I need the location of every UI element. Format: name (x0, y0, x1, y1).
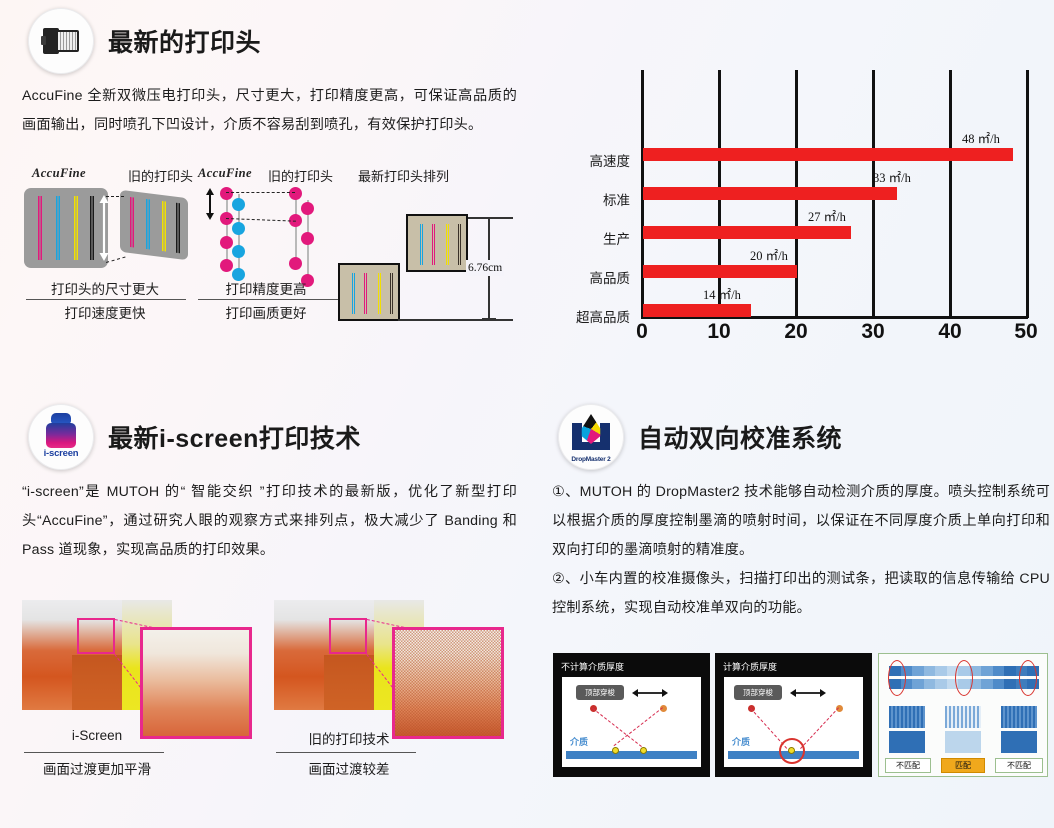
figure-head-arrangement: 最新打印头排列 6.76cm (340, 166, 515, 326)
old-head-body (120, 190, 188, 260)
brochure-page: 最新的打印头 AccuFine 全新双微压电打印头，尺寸更大，打印精度更高，可保… (0, 0, 1054, 828)
page-title-iscreen: 最新i-screen打印技术 (108, 419, 361, 455)
section-header-iscreen: i-screen 最新i-screen打印技术 (28, 404, 361, 470)
align-line-top (226, 192, 295, 193)
chart-xtick-4: 40 (938, 320, 961, 344)
dm-media-bar-0 (566, 751, 697, 759)
paragraph-printhead: AccuFine 全新双微压电打印头，尺寸更大，打印精度更高，可保证高品质的画面… (22, 82, 517, 140)
dm-media-label-0: 介质 (570, 735, 588, 748)
calibration-result-panel: 不匹配 匹配 不匹配 (878, 653, 1048, 777)
patch-left-bottom (889, 731, 925, 753)
dm-landing-b-0 (640, 747, 647, 754)
chart-xtick-3: 30 (861, 320, 884, 344)
dm-media-label-1: 介质 (732, 735, 750, 748)
figure-head-accuracy: AccuFine 旧的打印头 打印精度更高 打印画质更好 (196, 166, 336, 316)
dm-panel-title-1: 计算介质厚度 (723, 660, 777, 673)
dropmaster-icon-label: DropMaster 2 (567, 456, 615, 463)
chart-xtick-0: 0 (636, 320, 648, 344)
dm-panel-inner-0: 顶部穿梭 介质 (562, 677, 701, 767)
caption-rule-1 (26, 299, 186, 300)
caption-size-bottom: 打印速度更快 (20, 302, 190, 322)
sample-caption-iscreen: 画面过渡更加平滑 (22, 758, 172, 778)
arrangement-box-upper (406, 214, 468, 272)
page-title-dropmaster: 自动双向校准系统 (638, 419, 842, 455)
chart-category-2: 生产 (560, 228, 630, 248)
magnified-view-rough (392, 627, 504, 739)
section-header-printhead: 最新的打印头 (28, 8, 261, 74)
accufine-brand-label: AccuFine (32, 166, 86, 181)
arrangement-title: 最新打印头排列 (358, 166, 449, 185)
chart-xtick-2: 20 (784, 320, 807, 344)
figure-head-size: AccuFine 旧的打印头 打印头的尺寸更大 打印速度更快 (20, 166, 190, 316)
chart-category-3: 高品质 (560, 267, 630, 287)
chart-xtick-1: 10 (707, 320, 730, 344)
paragraph-dropmaster-1: ①、MUTOH 的 DropMaster2 技术能够自动检测介质的厚度。喷头控制… (552, 478, 1050, 565)
chart-value-label-2: 27 ㎡/h (808, 206, 846, 225)
magnified-view-smooth (140, 627, 252, 739)
chart-bar-4 (643, 304, 751, 317)
dm-arrow-1 (790, 687, 826, 699)
caption-rule-2 (198, 299, 338, 300)
chart-value-label-1: 33 ㎡/h (873, 167, 911, 186)
patch-right-bottom (1001, 731, 1037, 753)
chart-value-label-4: 14 ㎡/h (703, 284, 741, 303)
chart-category-0: 高速度 (560, 150, 630, 170)
sample-caption-oldtech: 画面过渡较差 (274, 758, 424, 778)
chart-value-label-3: 20 ㎡/h (750, 245, 788, 264)
marker-ellipse-center (955, 660, 973, 696)
height-arrow-new (98, 195, 110, 261)
sample-label-iscreen: i-Screen (22, 728, 172, 743)
paragraph-iscreen: “i-screen”是 MUTOH 的“ 智能交织 ”打印技术的最新版，优化了新… (22, 478, 517, 565)
marker-ellipse-right (1019, 660, 1037, 696)
printhead-icon (28, 8, 94, 74)
accufine-brand-label-2: AccuFine (198, 166, 252, 181)
patch-center-bottom (945, 731, 981, 753)
chart-category-4: 超高品质 (560, 306, 630, 326)
paragraph-dropmaster-2: ②、小车内置的校准摄像头，扫描打印出的测试条，把读取的信息传输给 CPU 控制系… (552, 565, 1050, 623)
chart-bar-2 (643, 226, 851, 239)
spacing-arrow (204, 188, 216, 220)
sample-rule-2 (276, 752, 416, 753)
patch-right-top (1001, 706, 1037, 728)
old-head-label-2: 旧的打印头 (268, 166, 333, 185)
chart-bar-0 (643, 148, 1013, 161)
speed-bar-chart: 高速度 标准 生产 高品质 超高品质 48 ㎡/h 33 ㎡/h 27 ㎡/h … (560, 62, 1054, 332)
dm-panel-inner-1: 顶部穿梭 介质 (724, 677, 863, 767)
caption-size-top: 打印头的尺寸更大 (20, 278, 190, 298)
dm-traj-b-1 (800, 707, 839, 749)
chart-xtick-5: 50 (1014, 320, 1037, 344)
calibration-tag-1: 匹配 (941, 758, 985, 773)
i-screen-icon: i-screen (28, 404, 94, 470)
caption-accuracy-top: 打印精度更高 (196, 278, 336, 298)
dm-panel-with: 计算介质厚度 顶部穿梭 介质 (715, 653, 872, 777)
arrangement-box-lower (338, 263, 400, 321)
calibration-tag-2: 不匹配 (995, 758, 1043, 773)
dm-chip-0: 顶部穿梭 (576, 685, 624, 700)
patch-center-top (945, 706, 981, 728)
dropmaster-icon: DropMaster 2 (558, 404, 624, 470)
double-arrow-icon (632, 687, 668, 699)
calibration-tag-0: 不匹配 (885, 758, 931, 773)
marker-ellipse-left (888, 660, 906, 696)
dm-panel-without: 不计算介质厚度 顶部穿梭 介质 (553, 653, 710, 777)
chart-category-1: 标准 (560, 189, 630, 209)
connector-top (106, 196, 124, 197)
page-title-printhead: 最新的打印头 (108, 23, 261, 59)
i-screen-icon-label: i-screen (38, 448, 84, 459)
dm-chip-1: 顶部穿梭 (734, 685, 782, 700)
section-header-dropmaster: DropMaster 2 自动双向校准系统 (558, 404, 842, 470)
chart-gridline-40 (949, 70, 952, 318)
chart-gridline-50 (1026, 70, 1029, 318)
sample-label-oldtech: 旧的打印技术 (274, 728, 424, 748)
dm-traj-b-0 (614, 707, 663, 746)
dm-arrow-0 (632, 687, 668, 699)
sample-oldtech: 旧的打印技术 画面过渡较差 (274, 600, 514, 780)
sample-rule-1 (24, 752, 164, 753)
old-head-label: 旧的打印头 (128, 166, 193, 185)
caption-accuracy-bottom: 打印画质更好 (196, 302, 336, 322)
dm-landing-a-0 (612, 747, 619, 754)
double-arrow-icon-2 (790, 687, 826, 699)
accufine-head-body (24, 188, 108, 268)
chart-value-label-0: 48 ㎡/h (962, 128, 1000, 147)
chart-bar-3 (643, 265, 797, 278)
chart-bar-1 (643, 187, 897, 200)
magnifier-region-rough (329, 618, 367, 654)
magnifier-region-smooth (77, 618, 115, 654)
sample-iscreen: i-Screen 画面过渡更加平滑 (22, 600, 262, 780)
measure-label: 6.76cm (466, 260, 504, 276)
dm-panel-title-0: 不计算介质厚度 (561, 660, 624, 673)
patch-left-top (889, 706, 925, 728)
dm-focus-circle (779, 738, 805, 764)
